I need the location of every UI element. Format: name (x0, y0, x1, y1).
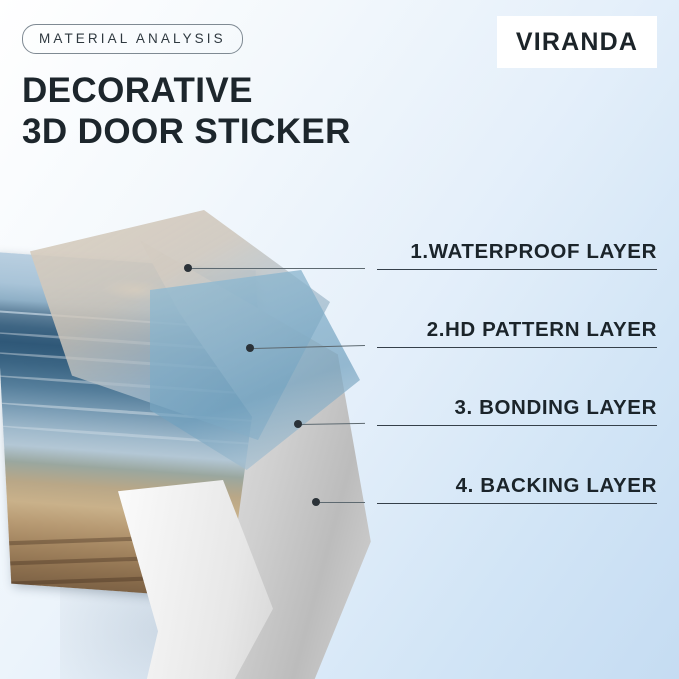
callout-label-backing-layer: 4. BACKING LAYER (377, 474, 657, 504)
callout-rule (377, 269, 657, 270)
callout-label-text: 4. BACKING LAYER (456, 474, 657, 497)
eyebrow-badge: MATERIAL ANALYSIS (22, 24, 243, 54)
brand-logo-box: VIRANDA (497, 16, 657, 68)
callout-label-text: 1.WATERPROOF LAYER (410, 240, 657, 263)
leader-line-4 (318, 502, 365, 503)
callout-dot-3 (294, 420, 302, 428)
callout-dot-2 (246, 344, 254, 352)
callout-label-bonding-layer: 3. BONDING LAYER (377, 396, 657, 426)
title-line-2: 3D DOOR STICKER (22, 111, 351, 152)
callout-label-hd-pattern-layer: 2.HD PATTERN LAYER (377, 318, 657, 348)
leader-line-1 (190, 268, 365, 269)
callout-rule (377, 425, 657, 426)
callout-label-text: 2.HD PATTERN LAYER (427, 318, 657, 341)
title-line-1: DECORATIVE (22, 71, 253, 110)
callout-label-waterproof-layer: 1.WATERPROOF LAYER (377, 240, 657, 270)
page-title: DECORATIVE 3D DOOR STICKER (22, 70, 351, 152)
brand-name: VIRANDA (516, 28, 638, 57)
callout-dot-1 (184, 264, 192, 272)
callout-dot-4 (312, 498, 320, 506)
callout-rule (377, 503, 657, 504)
callout-label-text: 3. BONDING LAYER (455, 396, 658, 419)
poster-canvas: MATERIAL ANALYSIS DECORATIVE 3D DOOR STI… (0, 0, 679, 679)
callout-rule (377, 347, 657, 348)
